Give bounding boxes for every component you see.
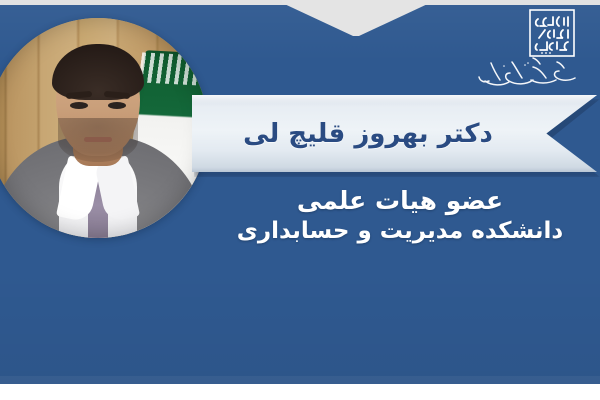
person-faculty: دانشکده مدیریت و حسابداری: [200, 218, 600, 245]
person-role: عضو هیات علمی: [200, 186, 600, 216]
name-ribbon: دکتر بهروز قلیچ لی: [192, 95, 600, 175]
subtitle-block: عضو هیات علمی دانشکده مدیریت و حسابداری: [200, 186, 600, 245]
bottom-seam-strip: [0, 376, 600, 384]
person-name: دکتر بهروز قلیچ لی: [192, 95, 544, 172]
hair: [52, 44, 144, 100]
avatar: دکتر بهروز قلیچ لی: [0, 18, 208, 238]
shahid-beheshti-seal-icon: [528, 8, 576, 58]
mouth: [84, 137, 112, 142]
public-relations-calligraphy-icon: [476, 54, 580, 92]
eye-left: [70, 102, 88, 109]
eye-right: [108, 102, 126, 109]
university-logo: [474, 6, 582, 94]
flag-kufic-script: [138, 52, 206, 85]
portrait-photo: [0, 18, 208, 238]
profile-banner-card: دکتر بهروز قلیچ لی دکتر بهروز قلیچ لی عض…: [0, 0, 600, 400]
